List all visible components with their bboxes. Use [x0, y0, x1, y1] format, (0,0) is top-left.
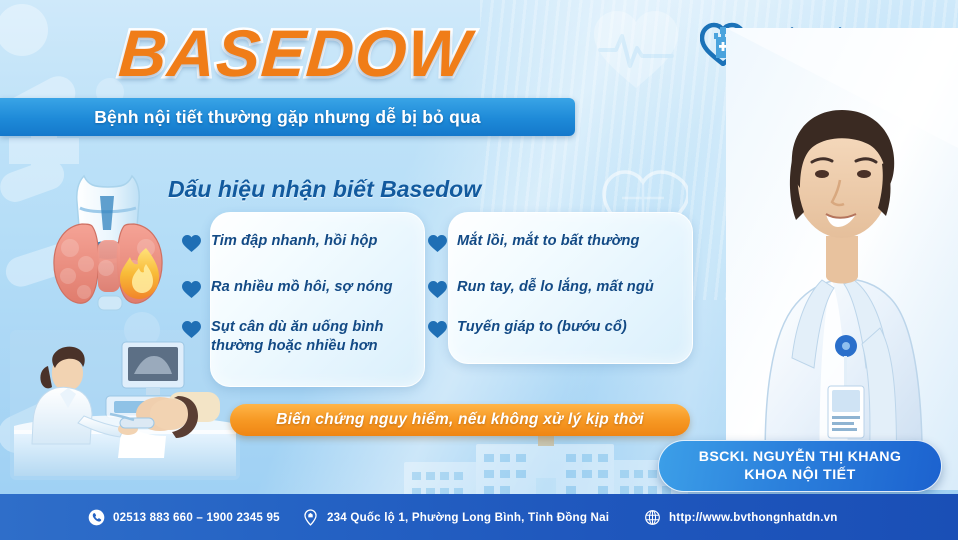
poster-title: BASEDOW: [57, 14, 532, 92]
symptom-text: Mắt lồi, mắt to bất thường: [457, 232, 640, 251]
warning-banner: Biến chứng nguy hiểm, nếu không xử lý kị…: [230, 404, 690, 436]
footer-website-text: http://www.bvthongnhatdn.vn: [669, 511, 838, 524]
symptom-item: Ra nhiều mồ hôi, sợ nóng: [182, 278, 393, 299]
symptom-item: Tim đập nhanh, hồi hộp: [182, 232, 378, 253]
doctor-name: BSCKI. NGUYỄN THỊ KHANG: [699, 449, 901, 465]
section-heading: Dấu hiệu nhận biết Basedow: [168, 176, 481, 203]
thyroid-gland-flame-illustration: [42, 168, 178, 338]
heart-ecg-watermark: [590, 8, 682, 92]
heart-icon: [428, 235, 447, 253]
doctor-portrait-photo: [726, 28, 958, 490]
heart-icon: [182, 235, 201, 253]
symptom-item: Run tay, dễ lo lắng, mất ngủ: [428, 278, 654, 299]
globe-icon: [644, 509, 661, 526]
heart-icon: [428, 281, 447, 299]
phone-icon: [88, 509, 105, 526]
heart-icon: [428, 321, 447, 339]
poster-subtitle: Bệnh nội tiết thường gặp nhưng dễ bị bỏ …: [94, 107, 481, 128]
title-block: BASEDOW: [60, 14, 530, 94]
symptom-text: Sụt cân dù ăn uống bình thường hoặc nhiề…: [211, 318, 384, 356]
heart-icon: [182, 281, 201, 299]
doctor-department: KHOA NỘI TIẾT: [744, 467, 856, 483]
heart-icon: [182, 321, 201, 339]
footer-website[interactable]: http://www.bvthongnhatdn.vn: [644, 509, 838, 526]
poster-canvas: BASEDOW Bệnh nội tiết thường gặp nhưng d…: [0, 0, 958, 540]
symptom-text: Ra nhiều mồ hôi, sợ nóng: [211, 278, 393, 297]
symptom-text: Tim đập nhanh, hồi hộp: [211, 232, 378, 251]
doctor-name-badge: BSCKI. NGUYỄN THỊ KHANG KHOA NỘI TIẾT: [658, 440, 942, 492]
location-pin-icon: [302, 509, 319, 526]
footer-phone[interactable]: 02513 883 660 – 1900 2345 95: [88, 509, 280, 526]
footer-phone-text: 02513 883 660 – 1900 2345 95: [113, 511, 280, 524]
symptom-item: Tuyến giáp to (bướu cổ): [428, 318, 627, 339]
footer-address[interactable]: 234 Quốc lộ 1, Phường Long Bình, Tỉnh Đồ…: [302, 509, 609, 526]
subtitle-band: Bệnh nội tiết thường gặp nhưng dễ bị bỏ …: [0, 98, 575, 136]
footer-bar: 02513 883 660 – 1900 2345 95 234 Quốc lộ…: [0, 494, 958, 540]
symptom-text: Run tay, dễ lo lắng, mất ngủ: [457, 278, 654, 297]
footer-address-text: 234 Quốc lộ 1, Phường Long Bình, Tỉnh Đồ…: [327, 511, 609, 524]
symptom-item: Sụt cân dù ăn uống bình thường hoặc nhiề…: [182, 318, 384, 356]
symptom-text: Tuyến giáp to (bướu cổ): [457, 318, 627, 337]
warning-banner-text: Biến chứng nguy hiểm, nếu không xử lý kị…: [276, 411, 644, 429]
symptom-item: Mắt lồi, mắt to bất thường: [428, 232, 640, 253]
